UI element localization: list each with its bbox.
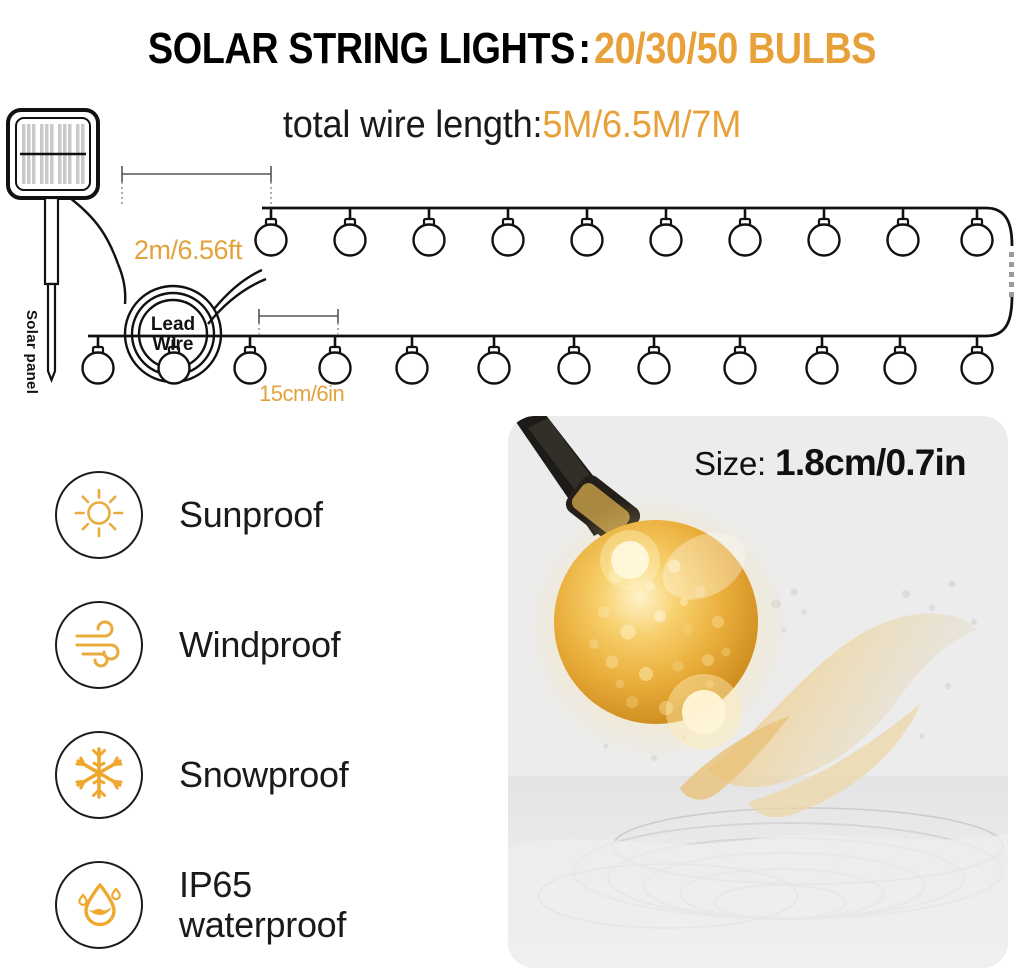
infographic-page: SOLAR STRING LIGHTS:20/30/50 BULBS total… <box>0 0 1024 980</box>
feature-list: Sunproof Windproof <box>55 450 485 970</box>
product-photo: Size: 1.8cm/0.7in <box>508 416 1008 968</box>
size-value: 1.8cm/0.7in <box>775 442 966 483</box>
continuation-dots <box>1009 252 1014 297</box>
page-title: SOLAR STRING LIGHTS:20/30/50 BULBS <box>72 24 953 74</box>
feature-label-waterproof-line2: waterproof <box>179 904 346 945</box>
feature-item-waterproof: IP65 waterproof <box>55 840 485 970</box>
feature-icon-badge <box>55 861 143 949</box>
string-wire <box>88 208 1012 336</box>
feature-item-snowproof: Snowproof <box>55 710 485 840</box>
lead-wire-label: Lead Wire <box>138 315 208 355</box>
size-badge: Size: 1.8cm/0.7in <box>694 442 966 484</box>
bulb-spacing-dimension-label: 15cm/6in <box>259 381 344 407</box>
feature-label-windproof: Windproof <box>179 626 340 664</box>
feature-label-waterproof-line1: IP65 <box>179 864 252 905</box>
water-drop-icon <box>71 875 127 936</box>
lead-length-dimension-label: 2m/6.56ft <box>134 235 242 266</box>
solar-panel-label: Solar panel <box>23 310 40 394</box>
lead-length-dimension-line <box>122 166 271 204</box>
crystal-globe-bulb <box>526 496 790 760</box>
top-row-bulbs <box>256 208 993 256</box>
lead-wire-label-line1: Lead <box>151 314 195 335</box>
feature-item-windproof: Windproof <box>55 580 485 710</box>
size-label: Size: <box>694 445 766 482</box>
feature-icon-badge <box>55 731 143 819</box>
feature-item-sunproof: Sunproof <box>55 450 485 580</box>
sun-icon <box>72 486 126 545</box>
title-highlight: 20/30/50 BULBS <box>594 24 876 73</box>
snowflake-icon <box>72 746 126 805</box>
feature-label-sunproof: Sunproof <box>179 496 323 534</box>
title-main: SOLAR STRING LIGHTS <box>148 24 575 73</box>
lead-wire-label-line2: Wire <box>152 334 193 355</box>
bulb-spacing-dimension-line <box>259 309 338 334</box>
string-light-diagram: 2m/6.56ft 15cm/6in Solar panel Lead Wire <box>0 96 1024 406</box>
feature-icon-badge <box>55 471 143 559</box>
wind-icon <box>71 618 127 673</box>
solar-panel-graphic <box>8 110 98 380</box>
feature-label-waterproof: IP65 waterproof <box>179 865 346 945</box>
title-separator: : <box>575 24 594 73</box>
feature-label-snowproof: Snowproof <box>179 756 348 794</box>
feature-icon-badge <box>55 601 143 689</box>
